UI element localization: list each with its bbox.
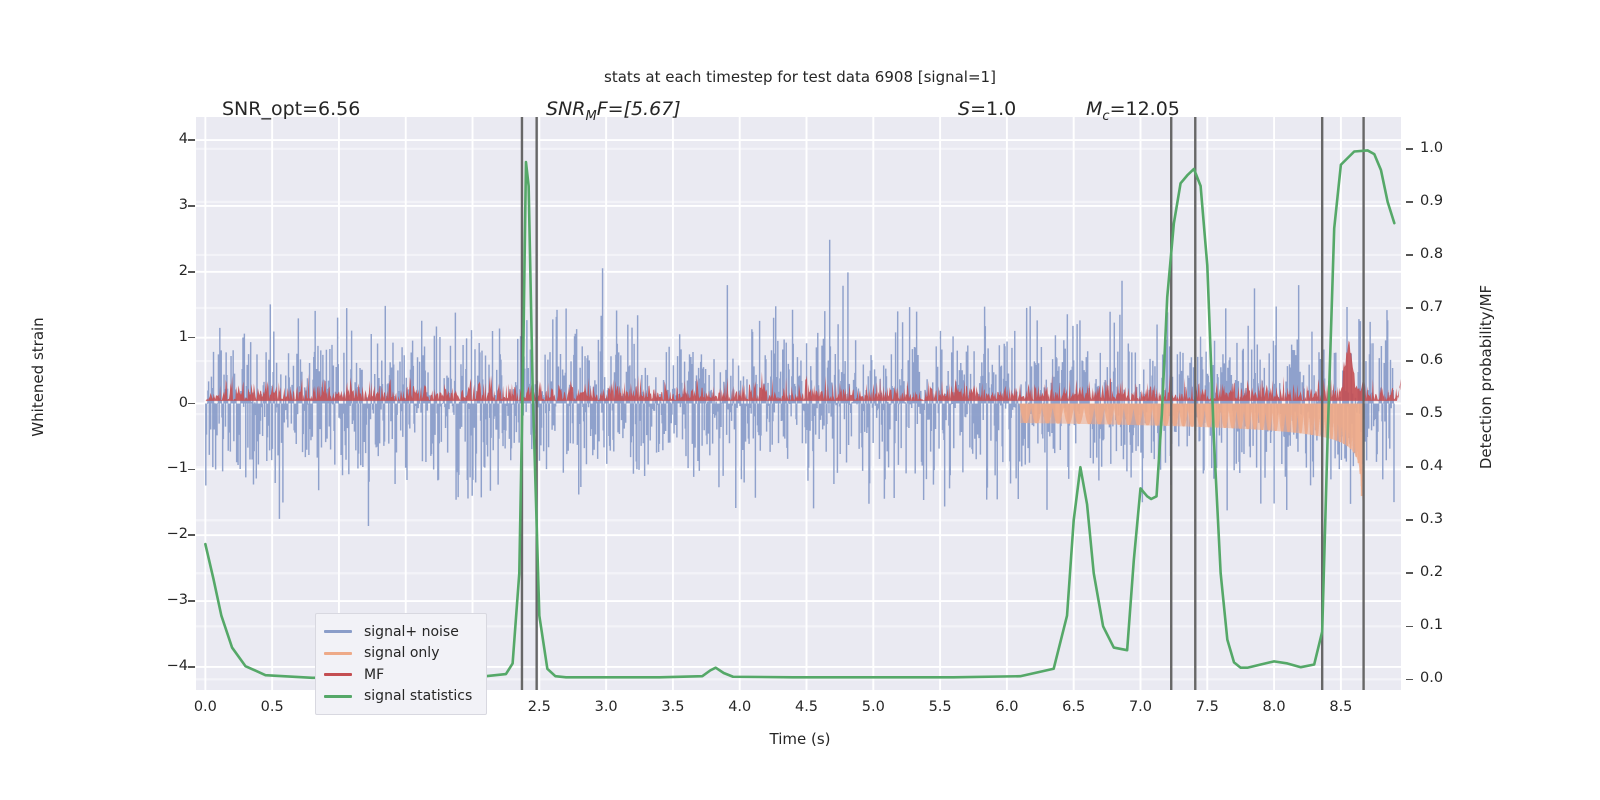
annotation-s-post: =1.0 — [970, 98, 1016, 120]
y-axis-left-tick-mark — [188, 534, 195, 536]
annotation-snr-mf-pre: SNR — [546, 98, 585, 120]
legend-item[interactable]: signal statistics — [324, 686, 477, 708]
x-axis-tick-label: 3.0 — [576, 700, 636, 715]
y-axis-left-tick-mark — [188, 337, 195, 339]
chart-canvas — [196, 117, 1401, 690]
y-axis-right-tick-mark — [1406, 626, 1413, 628]
y-axis-right-tick-mark — [1406, 413, 1413, 415]
y-axis-left-tick-label: −1 — [128, 461, 188, 476]
legend-item[interactable]: signal+ noise — [324, 621, 477, 643]
plot-area — [196, 117, 1401, 690]
y-axis-left-tick-label: −3 — [128, 593, 188, 608]
y-axis-left-tick-label: −2 — [128, 527, 188, 542]
annotation-mc: Mc=12.05 — [1086, 98, 1180, 124]
x-axis-tick-label: 8.5 — [1311, 700, 1371, 715]
x-axis-tick-label: 6.0 — [977, 700, 1037, 715]
annotation-snr-opt: SNR_opt=6.56 — [222, 98, 360, 120]
y-axis-left-label: Whitened strain — [29, 217, 47, 537]
legend-item[interactable]: MF — [324, 664, 477, 686]
y-axis-left-tick-label: 1 — [128, 330, 188, 345]
y-axis-right-tick-label: 0.9 — [1420, 194, 1480, 209]
y-axis-left-tick-mark — [188, 469, 195, 471]
legend-item-label: signal statistics — [364, 689, 472, 703]
y-axis-right-tick-mark — [1406, 254, 1413, 256]
annotation-mc-sub: c — [1102, 109, 1109, 124]
y-axis-right-tick-label: 0.0 — [1420, 671, 1480, 686]
y-axis-right-tick-label: 0.2 — [1420, 565, 1480, 580]
x-axis-tick-label: 3.5 — [643, 700, 703, 715]
x-axis-tick-label: 5.0 — [843, 700, 903, 715]
x-axis-label: Time (s) — [0, 730, 1600, 748]
y-axis-right-tick-mark — [1406, 466, 1413, 468]
legend-item-label: signal+ noise — [364, 625, 459, 639]
legend-item[interactable]: signal only — [324, 643, 477, 665]
y-axis-right-tick-label: 0.1 — [1420, 618, 1480, 633]
y-axis-left-tick-label: 3 — [128, 198, 188, 213]
y-axis-right-tick-label: 0.6 — [1420, 353, 1480, 368]
legend-color-swatch — [324, 673, 352, 676]
legend: signal+ noisesignal onlyMFsignal statist… — [315, 613, 487, 715]
x-axis-tick-label: 4.0 — [710, 700, 770, 715]
y-axis-left-tick-mark — [188, 403, 195, 405]
x-axis-tick-label: 6.5 — [1044, 700, 1104, 715]
page-title: stats at each timestep for test data 690… — [0, 68, 1600, 86]
y-axis-left-tick-label: −4 — [128, 659, 188, 674]
x-axis-tick-label: 5.5 — [910, 700, 970, 715]
y-axis-left-tick-label: 2 — [128, 264, 188, 279]
y-axis-right-tick-label: 1.0 — [1420, 141, 1480, 156]
y-axis-right-tick-mark — [1406, 679, 1413, 681]
y-axis-left-tick-mark — [188, 600, 195, 602]
annotation-s-pre: S — [958, 98, 970, 120]
y-axis-left-tick-mark — [188, 271, 195, 273]
annotation-snr-mf: SNRMF=[5.67] — [546, 98, 681, 124]
legend-item-label: signal only — [364, 646, 439, 660]
y-axis-right-tick-label: 0.4 — [1420, 459, 1480, 474]
y-axis-right-tick-mark — [1406, 572, 1413, 574]
y-axis-left-tick-label: 4 — [128, 132, 188, 147]
y-axis-left-tick-mark — [188, 139, 195, 141]
y-axis-right-label: Detection probability/MF — [1477, 217, 1495, 537]
y-axis-right-tick-mark — [1406, 307, 1413, 309]
annotation-mc-post: =12.05 — [1110, 98, 1180, 120]
y-axis-right-tick-mark — [1406, 201, 1413, 203]
x-axis-tick-label: 0.5 — [242, 700, 302, 715]
legend-color-swatch — [324, 630, 352, 633]
y-axis-right-tick-mark — [1406, 148, 1413, 150]
y-axis-right-tick-label: 0.3 — [1420, 512, 1480, 527]
annotation-snr-mf-sub: M — [585, 109, 596, 124]
x-axis-tick-label: 4.5 — [777, 700, 837, 715]
y-axis-right-tick-mark — [1406, 360, 1413, 362]
y-axis-right-tick-label: 0.8 — [1420, 247, 1480, 262]
x-axis-tick-label: 8.0 — [1244, 700, 1304, 715]
y-axis-left-tick-mark — [188, 666, 195, 668]
figure: stats at each timestep for test data 690… — [0, 0, 1600, 800]
annotation-mc-pre: M — [1086, 98, 1102, 120]
y-axis-left-tick-label: 0 — [128, 396, 188, 411]
y-axis-right-tick-label: 0.5 — [1420, 406, 1480, 421]
x-axis-tick-label: 7.5 — [1177, 700, 1237, 715]
x-axis-tick-label: 2.5 — [509, 700, 569, 715]
x-axis-tick-label: 0.0 — [175, 700, 235, 715]
annotation-s: S=1.0 — [958, 98, 1016, 120]
legend-item-label: MF — [364, 668, 384, 682]
y-axis-right-tick-mark — [1406, 519, 1413, 521]
x-axis-tick-label: 7.0 — [1110, 700, 1170, 715]
legend-color-swatch — [324, 652, 352, 655]
annotation-snr-mf-post: F=[5.67] — [597, 98, 681, 120]
y-axis-left-tick-mark — [188, 205, 195, 207]
legend-color-swatch — [324, 695, 352, 698]
y-axis-right-tick-label: 0.7 — [1420, 300, 1480, 315]
